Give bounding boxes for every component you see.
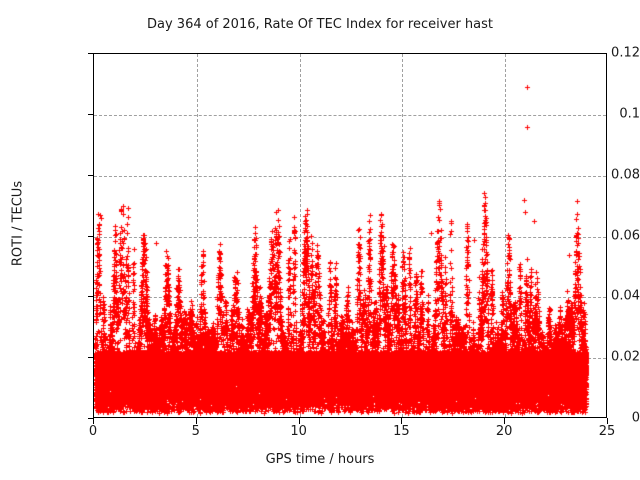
x-axis-tick-mark [299,418,300,424]
x-axis-label: GPS time / hours [0,452,640,467]
x-axis-tick-label: 20 [474,424,534,439]
x-axis-tick-mark [607,418,608,424]
x-axis-tick-mark [196,418,197,424]
x-axis-tick-label: 5 [166,424,226,439]
x-axis-tick-mark [93,418,94,424]
x-axis-tick-mark [504,418,505,424]
x-axis-tick-mark [401,418,402,424]
plot-window: Day 364 of 2016, Rate Of TEC Index for r… [0,0,640,480]
x-axis-tick-label: 25 [577,424,637,439]
x-axis-tick-label: 0 [63,424,123,439]
y-axis-label: ROTI / TECUs [11,144,26,304]
scatter-series-roti [94,54,607,418]
plot-area [93,53,607,418]
page-title: Day 364 of 2016, Rate Of TEC Index for r… [0,17,640,32]
x-axis-tick-label: 15 [371,424,431,439]
x-axis-tick-label: 10 [269,424,329,439]
